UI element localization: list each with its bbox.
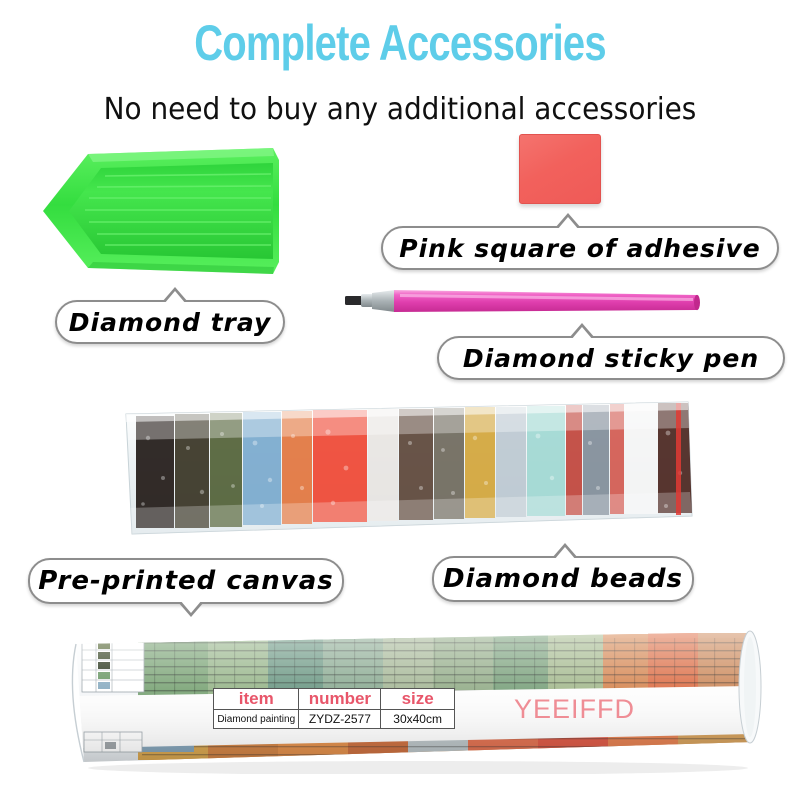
callout-pink-adhesive[interactable]: Pink square of adhesive <box>381 226 779 270</box>
header-size: size <box>381 689 455 710</box>
header-number: number <box>299 689 381 710</box>
value-number: ZYDZ-2577 <box>299 710 381 729</box>
callout-tail-inner-icon <box>557 217 579 230</box>
callout-label: Pre-printed canvas <box>38 566 334 596</box>
diamond-beads-bag-image <box>118 388 696 548</box>
callout-label: Diamond tray <box>69 308 272 337</box>
diamond-tray-image <box>33 138 279 284</box>
brand-logo-text: YEEIFFD <box>514 694 635 725</box>
callout-diamond-beads[interactable]: Diamond beads <box>432 556 694 602</box>
page-subtitle: No need to buy any additional accessorie… <box>28 92 772 128</box>
callout-pre-printed-canvas[interactable]: Pre-printed canvas <box>28 558 344 604</box>
callout-label: Diamond sticky pen <box>463 344 759 373</box>
page-title: Complete Accessories <box>80 14 720 72</box>
callout-label: Pink square of adhesive <box>399 234 760 263</box>
callout-tail-inner-icon <box>164 291 186 304</box>
callout-diamond-sticky-pen[interactable]: Diamond sticky pen <box>437 336 785 380</box>
callout-tail-inner-icon <box>180 600 202 613</box>
header-item: item <box>214 689 299 710</box>
table-header-row: item number size <box>214 689 455 710</box>
diamond-sticky-pen-image <box>345 283 700 321</box>
value-item: Diamond painting <box>214 710 299 729</box>
value-size: 30x40cm <box>381 710 455 729</box>
callout-label: Diamond beads <box>443 564 683 594</box>
callout-tail-inner-icon <box>571 327 593 340</box>
canvas-spec-table: item number size Diamond painting ZYDZ-2… <box>213 688 455 729</box>
callout-diamond-tray[interactable]: Diamond tray <box>55 300 285 344</box>
infographic-canvas: Complete Accessories No need to buy any … <box>0 0 800 800</box>
table-value-row: Diamond painting ZYDZ-2577 30x40cm <box>214 710 455 729</box>
callout-tail-inner-icon <box>554 547 576 560</box>
pink-adhesive-square-image <box>519 134 601 204</box>
